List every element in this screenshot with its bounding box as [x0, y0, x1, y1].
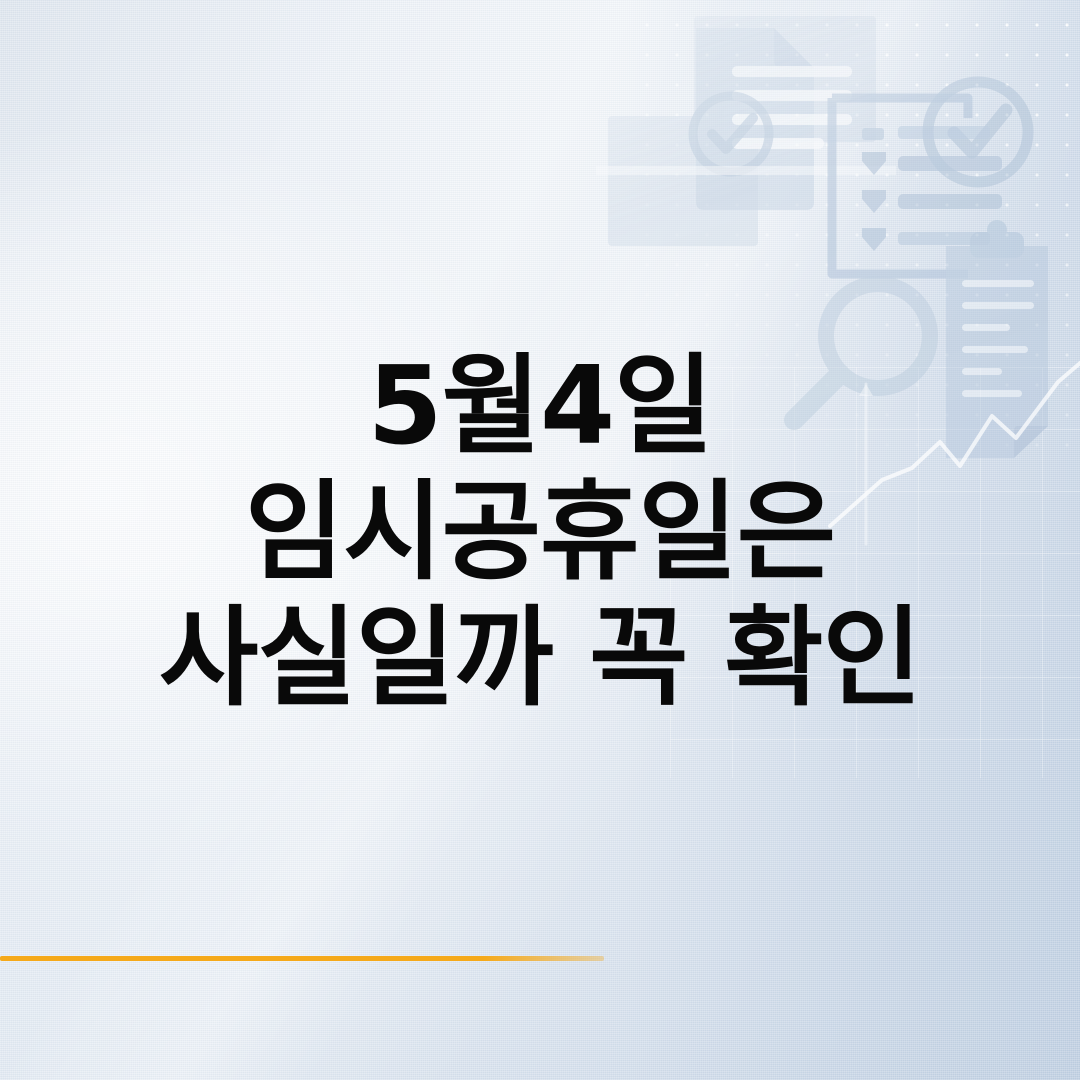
headline-line-1: 5월4일: [0, 344, 1080, 470]
headline-line-3: 사실일까 꼭 확인: [0, 596, 1080, 722]
headline-text: 5월4일 임시공휴일은 사실일까 꼭 확인: [0, 344, 1080, 722]
thumbnail-card: 5월4일 임시공휴일은 사실일까 꼭 확인: [0, 0, 1080, 1080]
accent-underline: [0, 956, 604, 961]
highlight-sweep: [596, 166, 896, 175]
headline-line-2: 임시공휴일은: [0, 470, 1080, 596]
